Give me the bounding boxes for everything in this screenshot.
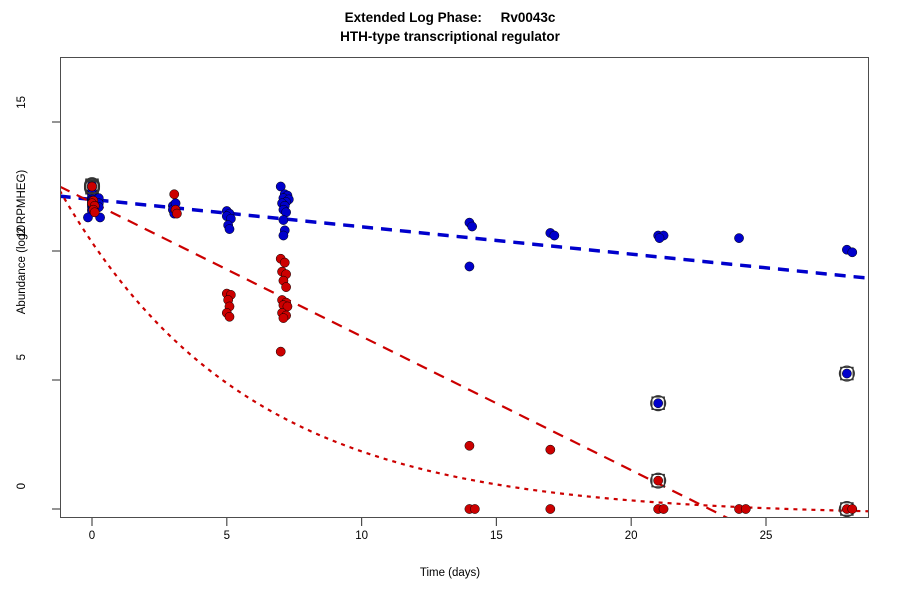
data-point <box>279 313 288 322</box>
x-axis-label: Time (days) <box>0 567 900 579</box>
data-point <box>276 347 285 356</box>
data-point <box>468 222 477 231</box>
red-linear-fit <box>60 187 783 546</box>
x-axis-tick-label: 0 <box>72 530 112 542</box>
data-point <box>170 190 179 199</box>
data-point <box>225 224 234 233</box>
data-point <box>282 283 291 292</box>
data-point <box>225 312 234 321</box>
y-axis-tick-label: 15 <box>16 96 28 128</box>
data-point <box>848 504 857 513</box>
x-axis-tick-label: 10 <box>342 530 382 542</box>
data-point <box>654 476 663 485</box>
trend-lines-group <box>60 187 874 546</box>
data-point <box>90 208 99 217</box>
data-point <box>848 248 857 257</box>
data-point <box>172 209 181 218</box>
data-point <box>550 231 559 240</box>
data-point <box>741 504 750 513</box>
data-point <box>655 234 664 243</box>
y-axis-tick-label: 0 <box>16 483 28 515</box>
x-axis-tick-label: 15 <box>476 530 516 542</box>
x-axis-tick-label: 5 <box>207 530 247 542</box>
data-point <box>546 445 555 454</box>
data-point <box>659 504 668 513</box>
data-point <box>734 234 743 243</box>
x-axis-tick-label: 20 <box>611 530 651 542</box>
data-point <box>546 504 555 513</box>
data-point <box>465 441 474 450</box>
plot-graphics-layer <box>0 0 900 600</box>
chart-root: Extended Log Phase: Rv0043c HTH-type tra… <box>0 0 900 600</box>
data-point <box>280 258 289 267</box>
data-point <box>654 399 663 408</box>
data-point <box>470 504 479 513</box>
data-points-group <box>83 178 857 517</box>
data-point <box>279 231 288 240</box>
data-point <box>465 262 474 271</box>
data-point <box>279 215 288 224</box>
axis-ticks-group <box>52 122 766 526</box>
data-point <box>842 369 851 378</box>
x-axis-tick-label: 25 <box>746 530 786 542</box>
y-axis-tick-label: 10 <box>16 225 28 257</box>
data-point <box>87 182 96 191</box>
y-axis-tick-label: 5 <box>16 354 28 386</box>
